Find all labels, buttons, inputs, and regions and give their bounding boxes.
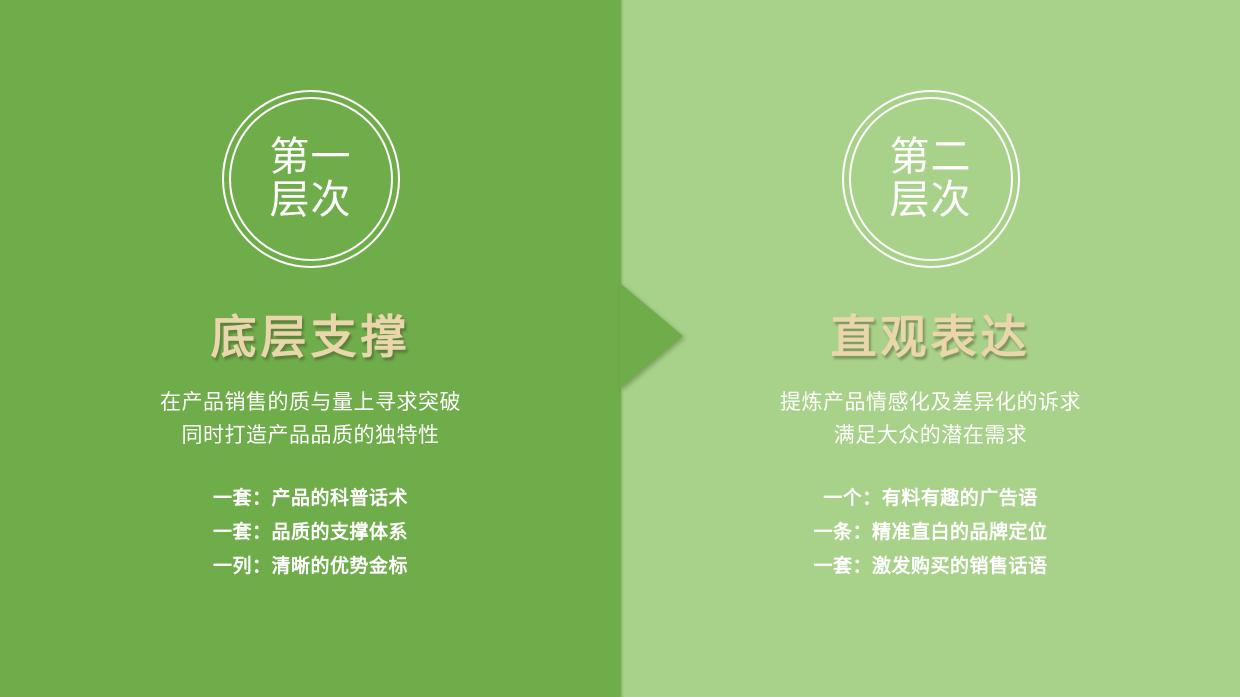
list-item: 一套：品质的支撑体系 bbox=[213, 516, 408, 550]
panel-point-list: 一个：有料有趣的广告语 一条：精准直白的品牌定位 一套：激发购买的销售话语 bbox=[813, 482, 1047, 583]
panel-headline: 底层支撑 bbox=[211, 301, 411, 367]
badge-label: 第二 层次 bbox=[890, 136, 972, 222]
panel-point-list: 一套：产品的科普话术 一套：品质的支撑体系 一列：清晰的优势金标 bbox=[213, 482, 408, 583]
panel-level-one: 第一 层次 底层支撑 在产品销售的质与量上寻求突破 同时打造产品品质的独特性 一… bbox=[0, 0, 621, 697]
slide-root: 第一 层次 底层支撑 在产品销售的质与量上寻求突破 同时打造产品品质的独特性 一… bbox=[0, 0, 1240, 697]
list-item: 一列：清晰的优势金标 bbox=[213, 550, 408, 584]
panel-headline: 直观表达 bbox=[831, 301, 1031, 367]
badge-label: 第一 层次 bbox=[270, 136, 352, 222]
panel-level-two: 第二 层次 直观表达 提炼产品情感化及差异化的诉求 满足大众的潜在需求 一个：有… bbox=[621, 0, 1240, 697]
badge-level-two: 第二 层次 bbox=[842, 90, 1020, 268]
panel-lead-text: 在产品销售的质与量上寻求突破 同时打造产品品质的独特性 bbox=[160, 387, 461, 452]
badge-level-one: 第一 层次 bbox=[222, 90, 400, 268]
list-item: 一套：产品的科普话术 bbox=[213, 482, 408, 516]
panel-lead-text: 提炼产品情感化及差异化的诉求 满足大众的潜在需求 bbox=[780, 387, 1081, 452]
list-item: 一个：有料有趣的广告语 bbox=[813, 482, 1047, 516]
list-item: 一套：激发购买的销售话语 bbox=[813, 550, 1047, 584]
list-item: 一条：精准直白的品牌定位 bbox=[813, 516, 1047, 550]
